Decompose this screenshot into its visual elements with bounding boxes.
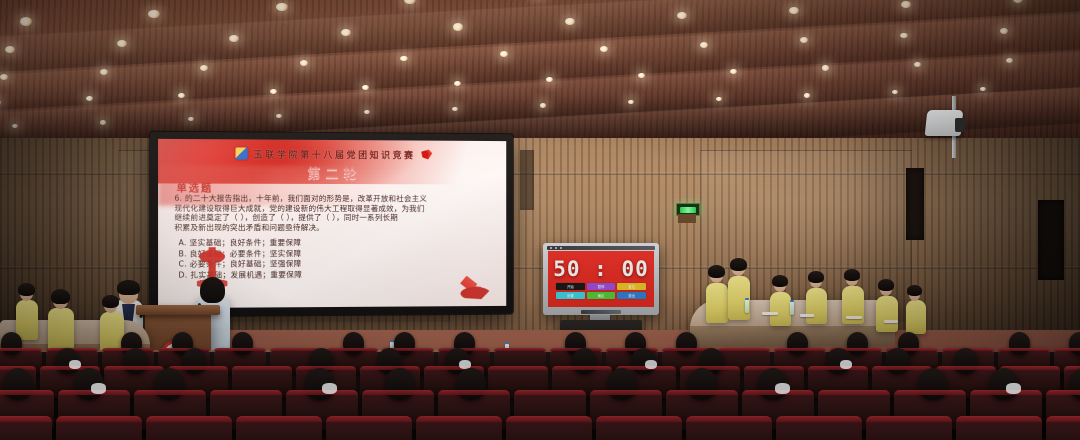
audience-member [154,368,184,400]
auditorium-photo: 玉联学院第十八届党团知识竞赛 第二轮 单选题 6. 的二十大报告指出，十年前，我… [0,0,1080,440]
seat-top-trim [236,416,322,422]
seat-top-trim [718,348,770,351]
audience-member [918,368,948,400]
seat-top-trim [666,390,738,395]
audience-member [232,332,254,355]
audience-member [385,368,415,400]
seat-top-trim [488,366,548,370]
contestant-hair [51,289,70,304]
audience-member [1009,332,1031,355]
audience-member [343,332,365,355]
audience-member [182,348,207,374]
face-mask [322,383,337,394]
bottle-cap [505,342,509,344]
face-mask [1006,383,1021,394]
seat-top-trim [326,416,412,422]
seat-top-trim [438,390,510,395]
seat-top-trim [872,366,932,370]
audience-member [607,368,637,400]
seat-top-trim [134,390,206,395]
seat-top-trim [232,366,292,370]
seat-top-trim [506,416,592,422]
seat-top-trim [104,366,164,370]
seat-top-trim [894,390,966,395]
seat-top-trim [56,416,142,422]
seat-top-trim [956,416,1042,422]
contestant [16,300,38,340]
seat-top-trim [686,416,772,422]
seat-top-trim [552,366,612,370]
seat-top-trim [936,366,996,370]
face-mask [775,383,790,394]
seat-top-trim [1054,348,1080,351]
audience-member [953,348,978,374]
seat-top-trim [360,366,420,370]
audience-seats [0,340,1080,440]
face-mask [91,383,106,394]
seat-top-trim [146,416,232,422]
audience-member [3,368,33,400]
seat-top-trim [866,416,952,422]
seat-top-trim [514,390,586,395]
face-mask [69,360,82,369]
audience-member [1,332,23,355]
face-mask [645,360,658,369]
seat-top-trim [998,348,1050,351]
audience-member [787,332,809,355]
audience-member [885,348,910,374]
audience-member [572,348,597,374]
seat-top-trim [0,348,42,351]
audience-member [456,368,486,400]
audience-member [123,348,148,374]
seat-top-trim [0,416,52,422]
seat-top-trim [0,390,54,395]
seat-top-trim [494,348,546,351]
seat-top-trim [776,416,862,422]
seat-top-trim [596,416,682,422]
seat-top-trim [362,390,434,395]
face-mask [840,360,853,369]
seat-top-trim [774,348,826,351]
audience-member [687,368,717,400]
seat-top-trim [326,348,378,351]
seat-top-trim [818,390,890,395]
contestant-hair [18,283,35,296]
audience-member [676,332,698,355]
seat-top-trim [590,390,662,395]
seat-top-trim [416,416,502,422]
contestant-hair [102,295,119,308]
audience-member [847,332,869,355]
seat-top-trim [214,348,266,351]
seat-top-trim [210,390,282,395]
seat-top-trim [808,366,868,370]
seat-top-trim [1046,416,1080,422]
seat-top-trim [1046,390,1080,395]
